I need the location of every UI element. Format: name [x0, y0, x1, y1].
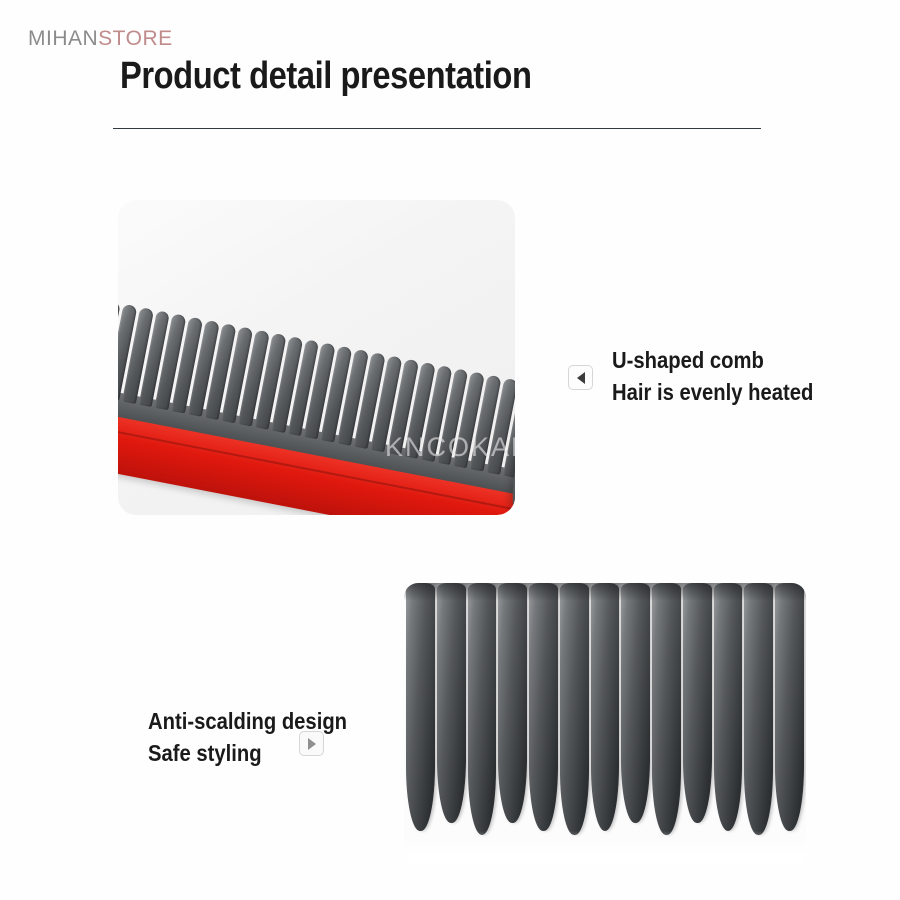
- comb-tooth: [498, 583, 527, 823]
- comb-tooth: [529, 583, 558, 831]
- comb-tooth: [437, 583, 466, 823]
- callout-right-arrow-button[interactable]: [299, 731, 324, 756]
- brand-logo: MIHANSTORE: [28, 28, 173, 49]
- title-divider: [113, 128, 761, 129]
- brand-logo-part-two: STORE: [98, 27, 172, 50]
- straightener-body: [118, 350, 515, 515]
- comb-tooth: [621, 583, 650, 823]
- callout-left-arrow-button[interactable]: [568, 365, 593, 390]
- comb-tooth: [714, 583, 743, 831]
- comb-tooth: [652, 583, 681, 835]
- teeth-closeup-illustration: [404, 583, 806, 865]
- brand-logo-part-one: MIHAN: [28, 27, 98, 50]
- comb-teeth-closeup-photo: [404, 583, 806, 865]
- u-shaped-comb-photo: KNCOKAR: [118, 200, 515, 515]
- comb-tooth: [468, 583, 497, 835]
- triangle-left-icon: [577, 372, 585, 384]
- callout-two-text: Anti-scalding design Safe styling: [148, 706, 374, 769]
- comb-illustration: [118, 200, 515, 515]
- callout-one-text: U-shaped comb Hair is evenly heated: [612, 345, 841, 408]
- comb-tooth: [560, 583, 589, 835]
- comb-tooth: [591, 583, 620, 831]
- product-detail-page: MIHANSTORE Product detail presentation: [0, 0, 900, 900]
- triangle-right-icon: [308, 738, 316, 750]
- callout-one-line-two: Hair is evenly heated: [612, 377, 813, 409]
- top-shadow-overlay: [404, 583, 806, 601]
- page-title: Product detail presentation: [120, 57, 531, 97]
- bottom-fade-overlay: [404, 831, 806, 865]
- comb-tooth: [744, 583, 773, 835]
- callout-one-line-one: U-shaped comb: [612, 345, 813, 377]
- comb-teeth-group: [404, 583, 806, 855]
- comb-tooth: [683, 583, 712, 823]
- comb-tooth: [406, 583, 435, 831]
- comb-tooth: [775, 583, 804, 831]
